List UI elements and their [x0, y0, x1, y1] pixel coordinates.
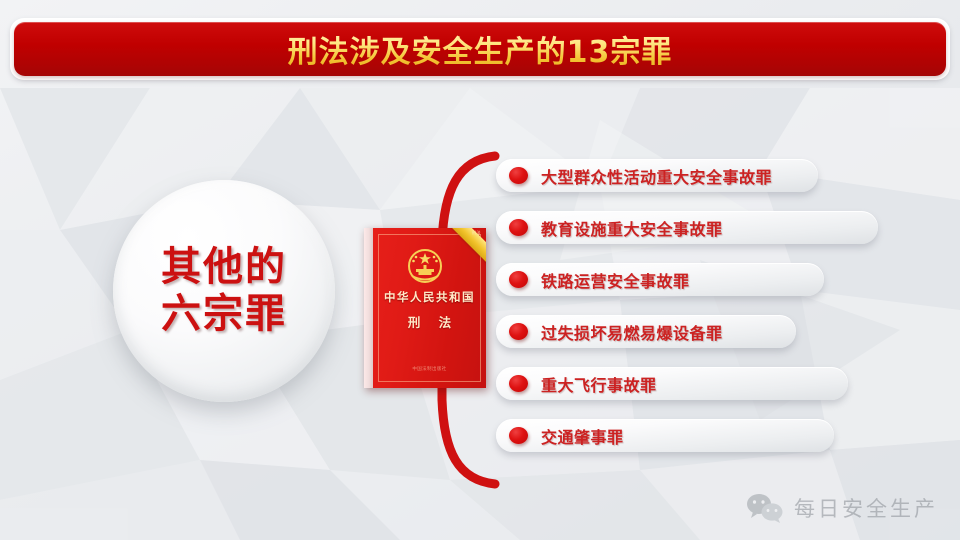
book-corner-tag: 刑法 [472, 230, 481, 236]
criminal-law-book: 刑法 中华人民共和国 刑 法 中国法制出版社 [364, 228, 486, 388]
bullet-dot-icon [509, 167, 528, 184]
crime-list-item-label: 重大飞行事故罪 [541, 372, 657, 396]
summary-circle: 其他的 六宗罪 [113, 180, 335, 402]
crime-list-item-4[interactable]: 过失损坏易燃易爆设备罪 [496, 315, 796, 348]
watermark-text: 每日安全生产 [794, 493, 938, 523]
bullet-dot-icon [509, 219, 528, 236]
crime-list-item-1[interactable]: 大型群众性活动重大安全事故罪 [496, 159, 818, 192]
bullet-dot-icon [509, 375, 528, 392]
crime-list-item-label: 交通肇事罪 [541, 424, 624, 448]
crime-list-item-6[interactable]: 交通肇事罪 [496, 419, 834, 452]
bullet-dot-icon [509, 271, 528, 288]
national-emblem [402, 245, 448, 287]
book-publisher: 中国法制出版社 [378, 366, 481, 372]
slide-canvas: 刑法涉及安全生产的13宗罪 其他的 六宗罪 刑法 中华人民共和国 刑 法 中国法… [0, 0, 960, 540]
crime-list-item-label: 过失损坏易燃易爆设备罪 [541, 320, 723, 344]
crime-list-item-label: 铁路运营安全事故罪 [541, 268, 690, 292]
bullet-dot-icon [509, 323, 528, 340]
book-spine [364, 228, 373, 388]
crime-list-item-5[interactable]: 重大飞行事故罪 [496, 367, 848, 400]
page-title: 刑法涉及安全生产的13宗罪 [288, 27, 673, 71]
crime-list-item-label: 大型群众性活动重大安全事故罪 [541, 164, 772, 188]
wechat-icon [745, 492, 785, 524]
title-banner: 刑法涉及安全生产的13宗罪 [14, 22, 946, 76]
watermark: 每日安全生产 [745, 492, 938, 524]
crime-list-item-label: 教育设施重大安全事故罪 [541, 216, 723, 240]
bullet-dot-icon [509, 427, 528, 444]
crime-list-item-3[interactable]: 铁路运营安全事故罪 [496, 263, 824, 296]
book-title-law: 刑 法 [378, 312, 481, 331]
book-title-country: 中华人民共和国 [378, 291, 481, 304]
circle-label-line2: 六宗罪 [161, 291, 287, 338]
circle-label-line1: 其他的 [161, 244, 287, 291]
crime-list-item-2[interactable]: 教育设施重大安全事故罪 [496, 211, 878, 244]
